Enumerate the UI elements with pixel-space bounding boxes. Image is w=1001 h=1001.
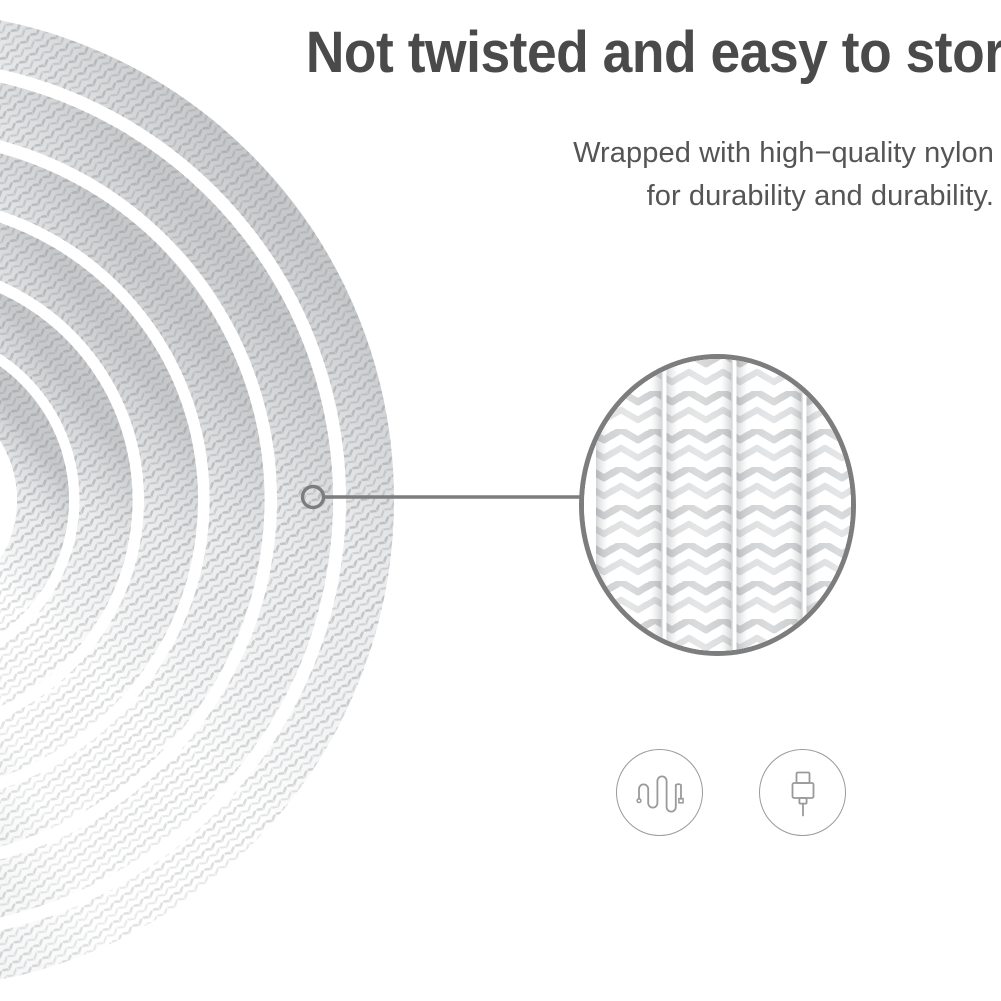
flexible-cable-glyph xyxy=(630,763,690,823)
product-feature-panel: Not twisted and easy to store Wrapped wi… xyxy=(0,0,1001,1001)
braid-closeup-weave xyxy=(579,354,856,656)
flexible-cable-icon[interactable] xyxy=(616,749,703,836)
cable-detail-marker xyxy=(303,487,324,508)
magnifier-circle xyxy=(579,354,856,656)
usb-connector-glyph xyxy=(773,763,833,823)
usb-connector-icon[interactable] xyxy=(759,749,846,836)
feature-icon-row xyxy=(616,745,846,840)
